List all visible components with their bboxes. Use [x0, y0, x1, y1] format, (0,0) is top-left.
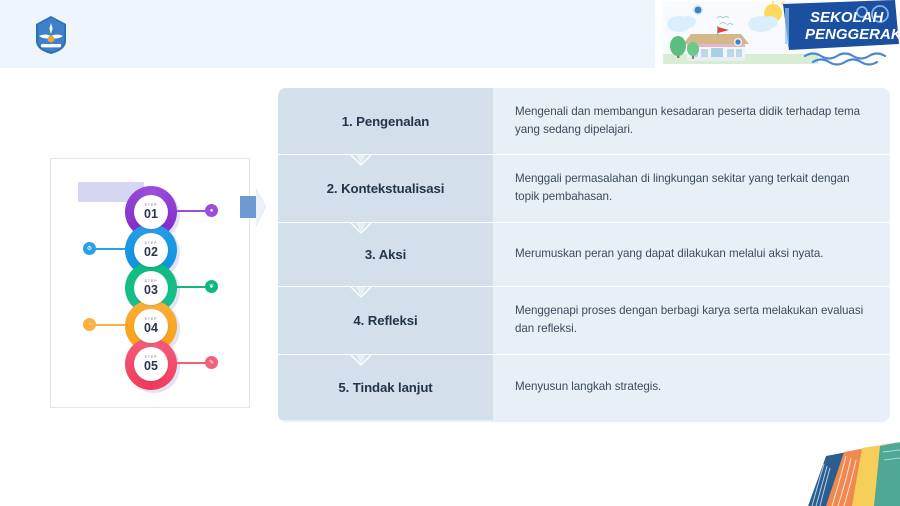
sekolah-penggerak-banner: SEKOLAH PENGGERAK — [655, 0, 900, 68]
table-cell-description: Merumuskan peran yang dapat dilakukan me… — [493, 222, 890, 286]
table-cell-stage: 4. Refleksi — [278, 286, 493, 354]
leaf-icon: ❦ — [205, 280, 218, 293]
step-number: 01 — [144, 208, 158, 221]
clock-icon: ◔ — [83, 318, 96, 331]
description-text: Menggenapi proses dengan berbagi karya s… — [515, 302, 876, 338]
table-row: 4. RefleksiMenggenapi proses dengan berb… — [278, 286, 890, 354]
table-row: 3. AksiMerumuskan peran yang dapat dilak… — [278, 222, 890, 286]
table-row: 5. Tindak lanjutMenyusun langkah strateg… — [278, 354, 890, 420]
step-inner: STEP02 — [134, 233, 168, 267]
step-number: 04 — [144, 322, 158, 335]
stage-label: 3. Aksi — [365, 247, 406, 262]
table-cell-stage: 5. Tindak lanjut — [278, 354, 493, 420]
stage-label: 1. Pengenalan — [342, 114, 429, 129]
step-inner: STEP05 — [134, 347, 168, 381]
table-row: 2. KontekstualisasiMenggali permasalahan… — [278, 154, 890, 222]
table-cell-stage: 2. Kontekstualisasi — [278, 154, 493, 222]
table-cell-description: Menggali permasalahan di lingkungan seki… — [493, 154, 890, 222]
row-chevron-icon — [338, 222, 384, 234]
row-chevron-icon — [338, 354, 384, 366]
description-text: Menyusun langkah strategis. — [515, 378, 661, 396]
row-chevron-icon — [338, 154, 384, 166]
droplet-icon: ● — [205, 204, 218, 217]
phases-table: 1. PengenalanMengenali dan membangun kes… — [278, 88, 890, 422]
description-text: Merumuskan peran yang dapat dilakukan me… — [515, 245, 823, 263]
table-cell-stage: 3. Aksi — [278, 222, 493, 286]
pencil-icon: ✎ — [205, 356, 218, 369]
row-chevron-icon — [338, 286, 384, 298]
stage-label: 4. Refleksi — [353, 313, 417, 328]
description-text: Mengenali dan membangun kesadaran pesert… — [515, 103, 876, 139]
stage-label: 2. Kontekstualisasi — [327, 181, 445, 196]
step-number: 02 — [144, 246, 158, 259]
table-row: 1. PengenalanMengenali dan membangun kes… — [278, 88, 890, 154]
banner-line2: PENGGERAK — [805, 26, 900, 43]
description-text: Menggali permasalahan di lingkungan seki… — [515, 170, 876, 206]
step-inner: STEP01 — [134, 195, 168, 229]
step-circle-05[interactable]: STEP05 — [125, 338, 177, 390]
table-cell-stage: 1. Pengenalan — [278, 88, 493, 154]
table-cell-description: Mengenali dan membangun kesadaran pesert… — [493, 88, 890, 154]
steps-infographic-card: ●STEP01⚙STEP02❦STEP03◔STEP04✎STEP05 — [50, 158, 250, 408]
tut-wuri-handayani-logo — [30, 14, 72, 56]
banner-line1: SEKOLAH — [810, 9, 885, 26]
table-cell-description: Menyusun langkah strategis. — [493, 354, 890, 420]
batik-corner-graphic — [782, 426, 900, 506]
table-cell-description: Menggenapi proses dengan berbagi karya s… — [493, 286, 890, 354]
step-inner: STEP03 — [134, 271, 168, 305]
step-inner: STEP04 — [134, 309, 168, 343]
right-arrow-icon — [238, 186, 268, 228]
step-number: 05 — [144, 360, 158, 373]
stage-label: 5. Tindak lanjut — [338, 380, 432, 395]
gear-icon: ⚙ — [83, 242, 96, 255]
step-number: 03 — [144, 284, 158, 297]
steps-list: ●STEP01⚙STEP02❦STEP03◔STEP04✎STEP05 — [51, 159, 251, 409]
